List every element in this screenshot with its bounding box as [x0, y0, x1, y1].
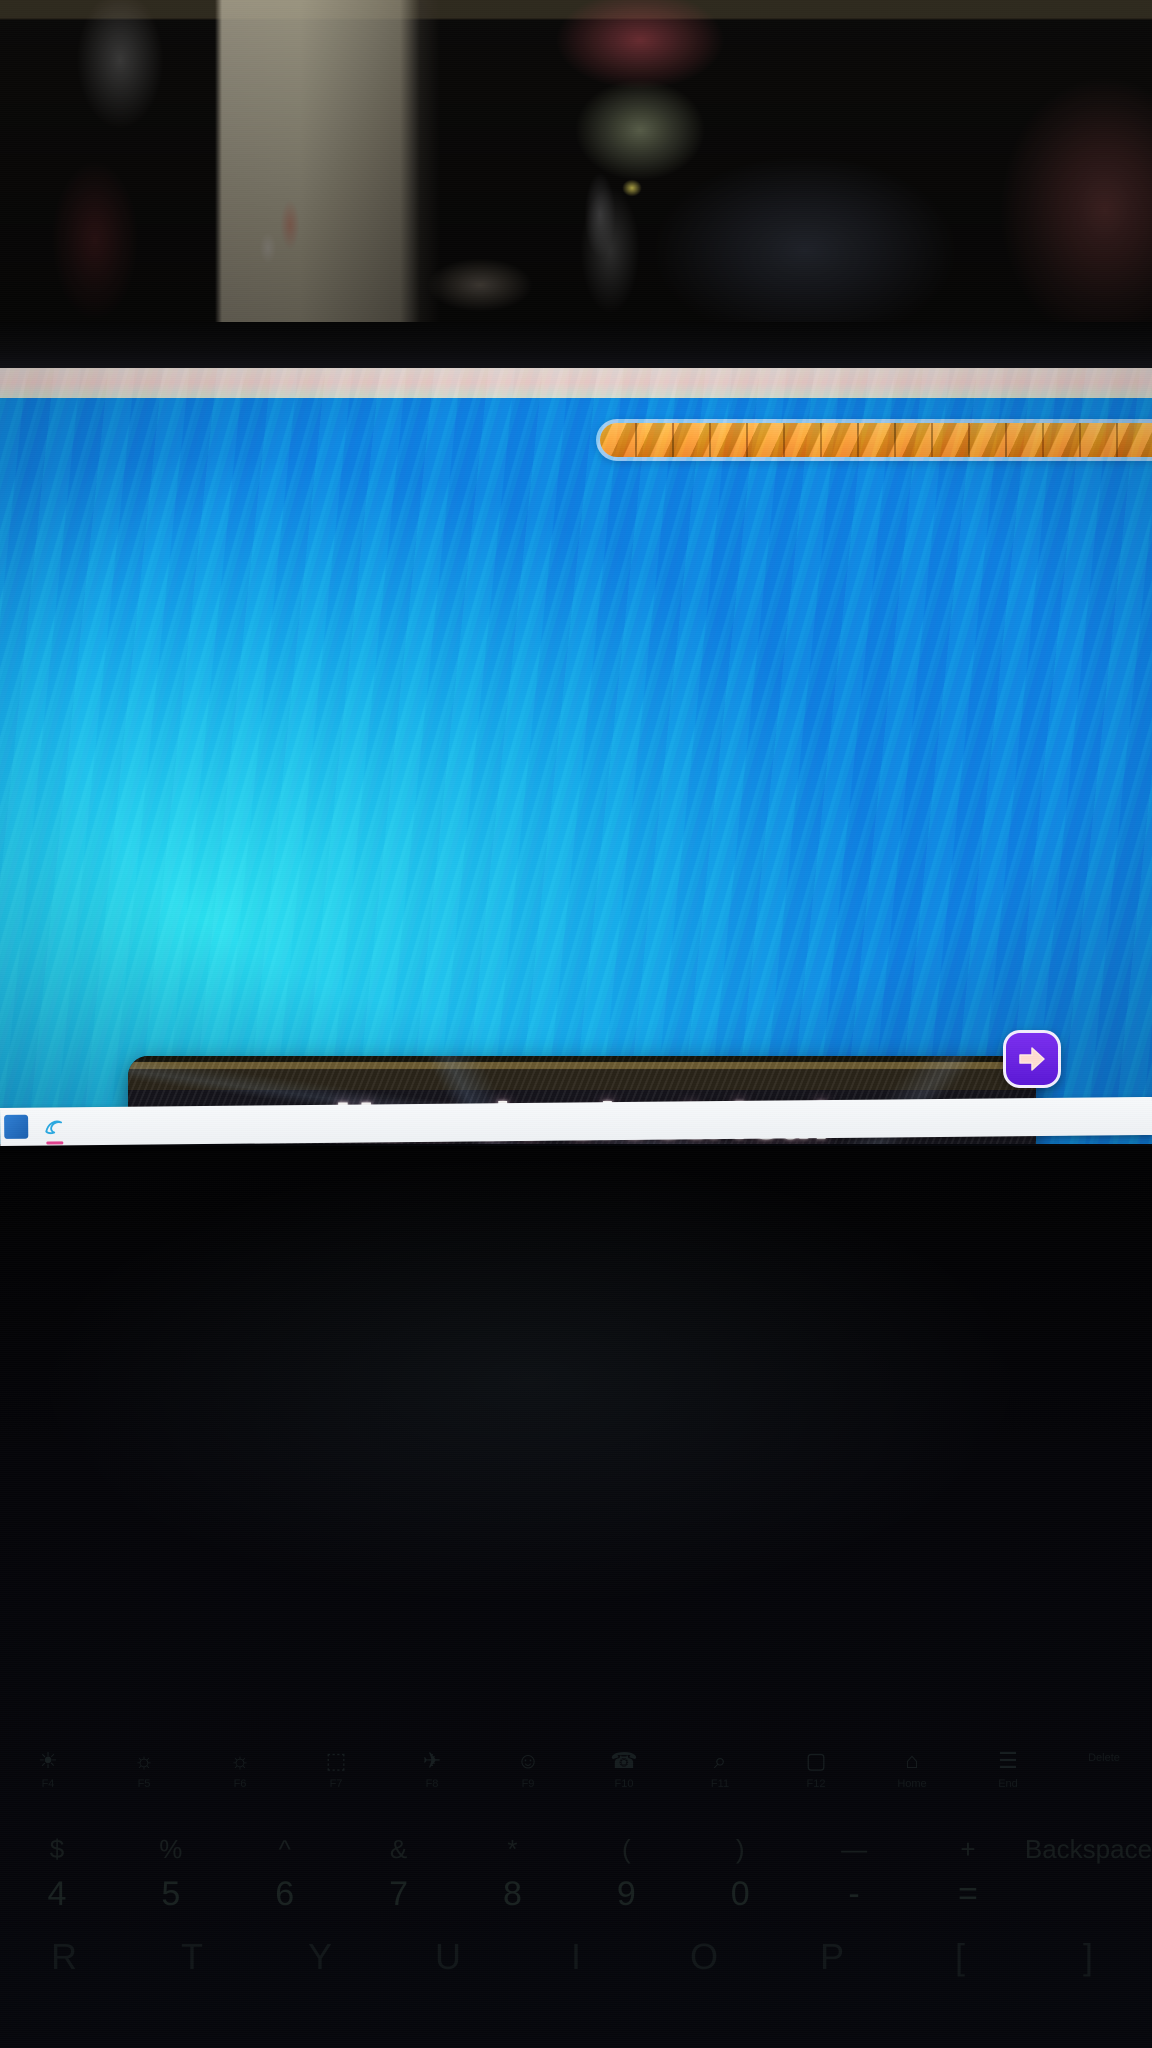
key-8[interactable]: *8 — [456, 1834, 570, 1914]
key-f4[interactable]: ☀F4 — [0, 1748, 96, 1790]
edge-browser-icon[interactable] — [42, 1114, 66, 1138]
key-f4-glyph: ☀ — [38, 1748, 58, 1773]
key-f10[interactable]: ☎F10 — [576, 1748, 672, 1790]
key-5-symbol: % — [114, 1834, 228, 1865]
key-f6[interactable]: ☼F6 — [192, 1748, 288, 1790]
key-f11[interactable]: ⌕F11 — [672, 1748, 768, 1790]
key-7-symbol: & — [342, 1834, 456, 1865]
laptop-keyboard: ☀F4 ☼F5 ☼F6 ⬚F7 ✈F8 ☺F9 ☎F10 ⌕F11 ▢F12 ⌂… — [0, 1146, 1152, 2048]
key-delete-label: Delete — [1056, 1752, 1152, 1764]
key-f8-glyph: ✈ — [423, 1748, 441, 1773]
key-f7-glyph: ⬚ — [326, 1748, 347, 1773]
keyboard-alpha-row: R T Y U I O P [ ] — [0, 1936, 1152, 1978]
key-bracket-left[interactable]: [ — [896, 1936, 1024, 1978]
key-end-label: End — [960, 1778, 1056, 1790]
key-f4-label: F4 — [0, 1778, 96, 1790]
laptop-screen: How do electrical generators produce ele… — [0, 368, 1152, 1144]
key-o[interactable]: O — [640, 1936, 768, 1978]
key-f12-label: F12 — [768, 1778, 864, 1790]
key-equals-number: = — [911, 1875, 1025, 1914]
key-6-symbol: ^ — [228, 1834, 342, 1865]
key-f12[interactable]: ▢F12 — [768, 1748, 864, 1790]
key-f11-glyph: ⌕ — [714, 1748, 726, 1773]
key-end[interactable]: ☰End — [960, 1748, 1056, 1790]
key-f7[interactable]: ⬚F7 — [288, 1748, 384, 1790]
next-question-button[interactable] — [1003, 1030, 1061, 1088]
key-6-number: 6 — [228, 1875, 342, 1914]
key-0-symbol: ) — [683, 1834, 797, 1865]
key-f6-glyph: ☼ — [230, 1748, 250, 1773]
key-equals[interactable]: += — [911, 1834, 1025, 1914]
key-bracket-right[interactable]: ] — [1024, 1936, 1152, 1978]
key-f8[interactable]: ✈F8 — [384, 1748, 480, 1790]
room-background-photo — [0, 0, 1152, 322]
key-4[interactable]: $4 — [0, 1834, 114, 1914]
key-t[interactable]: T — [128, 1936, 256, 1978]
key-equals-symbol: + — [911, 1834, 1025, 1865]
key-5-number: 5 — [114, 1875, 228, 1914]
key-f6-label: F6 — [192, 1778, 288, 1790]
key-9-number: 9 — [569, 1875, 683, 1914]
edge-active-indicator — [46, 1141, 63, 1144]
key-f9-label: F9 — [480, 1778, 576, 1790]
keyboard-function-row: ☀F4 ☼F5 ☼F6 ⬚F7 ✈F8 ☺F9 ☎F10 ⌕F11 ▢F12 ⌂… — [0, 1748, 1152, 1790]
key-6[interactable]: ^6 — [228, 1834, 342, 1914]
key-f9-glyph: ☺ — [517, 1748, 539, 1773]
key-f5[interactable]: ☼F5 — [96, 1748, 192, 1790]
key-r[interactable]: R — [0, 1936, 128, 1978]
key-minus-symbol: — — [797, 1834, 911, 1865]
progress-segments — [600, 423, 1152, 457]
key-minus-number: - — [797, 1875, 911, 1914]
quiz-background — [0, 398, 1152, 1144]
key-minus[interactable]: —- — [797, 1834, 911, 1914]
key-0[interactable]: )0 — [683, 1834, 797, 1914]
key-f11-label: F11 — [672, 1778, 768, 1790]
key-f5-label: F5 — [96, 1778, 192, 1790]
key-delete[interactable]: Delete — [1056, 1748, 1152, 1790]
key-8-number: 8 — [456, 1875, 570, 1914]
windows-start-icon[interactable] — [4, 1115, 28, 1139]
key-i[interactable]: I — [512, 1936, 640, 1978]
key-home-glyph: ⌂ — [905, 1748, 918, 1773]
laptop-base: ☀F4 ☼F5 ☼F6 ⬚F7 ✈F8 ☺F9 ☎F10 ⌕F11 ▢F12 ⌂… — [0, 1146, 1152, 2048]
key-f10-glyph: ☎ — [610, 1748, 637, 1773]
key-4-number: 4 — [0, 1875, 114, 1914]
key-7[interactable]: &7 — [342, 1834, 456, 1914]
key-home-label: Home — [864, 1778, 960, 1790]
key-f10-label: F10 — [576, 1778, 672, 1790]
key-u[interactable]: U — [384, 1936, 512, 1978]
key-8-symbol: * — [456, 1834, 570, 1865]
key-backspace[interactable]: Backspace — [1025, 1834, 1152, 1914]
key-0-number: 0 — [683, 1875, 797, 1914]
key-9[interactable]: (9 — [569, 1834, 683, 1914]
key-backspace-label: Backspace — [1025, 1834, 1152, 1865]
key-5[interactable]: %5 — [114, 1834, 228, 1914]
key-f7-label: F7 — [288, 1778, 384, 1790]
laptop-photo-scene: How do electrical generators produce ele… — [0, 0, 1152, 2048]
key-home[interactable]: ⌂Home — [864, 1748, 960, 1790]
arrow-right-icon — [1016, 1043, 1048, 1075]
key-7-number: 7 — [342, 1875, 456, 1914]
keyboard-number-row: $4 %5 ^6 &7 *8 (9 )0 —- += Backspace — [0, 1834, 1152, 1914]
key-f9[interactable]: ☺F9 — [480, 1748, 576, 1790]
key-end-glyph: ☰ — [998, 1748, 1018, 1773]
progress-track — [600, 423, 1152, 457]
key-9-symbol: ( — [569, 1834, 683, 1865]
key-4-symbol: $ — [0, 1834, 114, 1865]
key-f8-label: F8 — [384, 1778, 480, 1790]
key-f12-glyph: ▢ — [806, 1748, 827, 1773]
key-f5-glyph: ☼ — [134, 1748, 154, 1773]
progress-bar — [596, 419, 1152, 461]
key-y[interactable]: Y — [256, 1936, 384, 1978]
laptop-bezel-top — [0, 322, 1152, 370]
key-p[interactable]: P — [768, 1936, 896, 1978]
